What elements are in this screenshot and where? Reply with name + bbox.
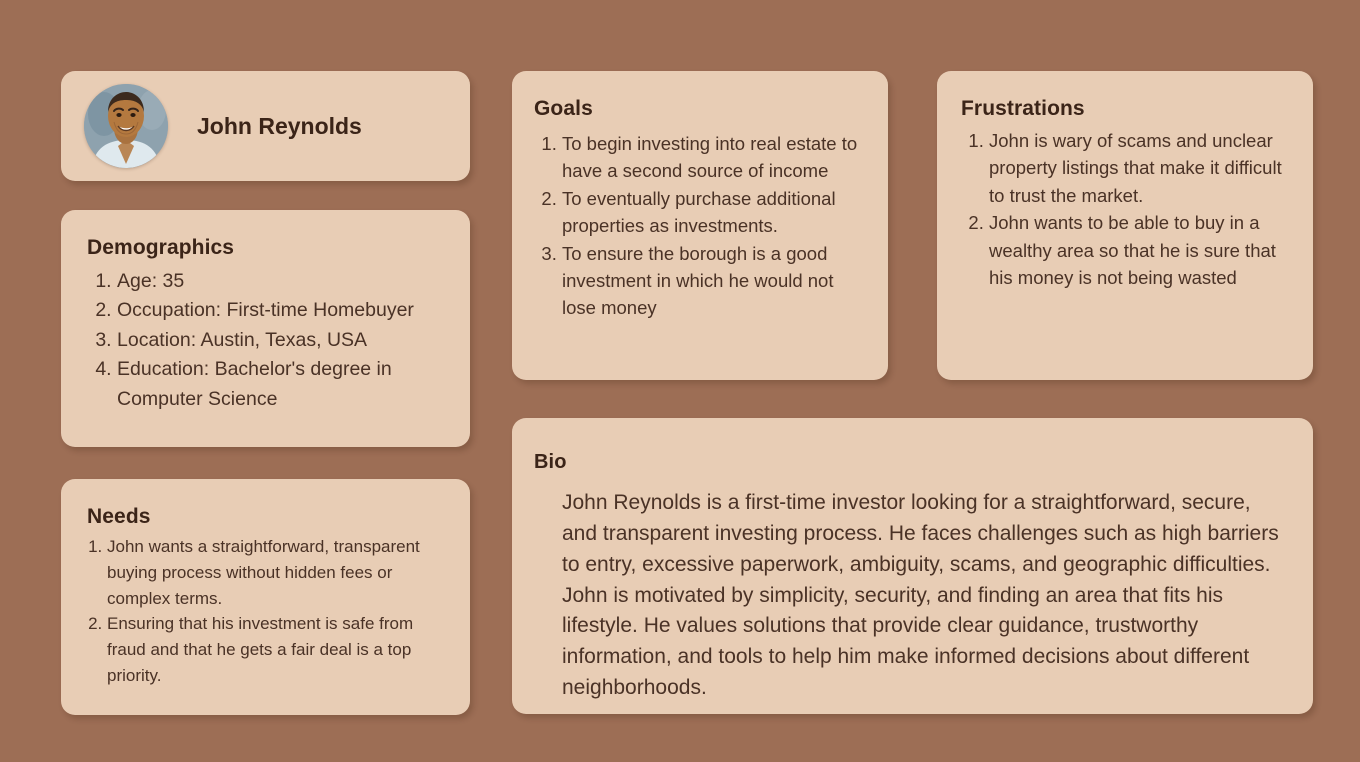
portrait-photo-icon xyxy=(84,84,168,168)
demographics-list: Age: 35 Occupation: First-time Homebuyer… xyxy=(87,267,448,414)
identity-card: John Reynolds xyxy=(61,71,470,181)
needs-title: Needs xyxy=(87,505,448,529)
list-item: Age: 35 xyxy=(117,267,448,296)
persona-name: John Reynolds xyxy=(197,113,362,140)
goals-title: Goals xyxy=(534,97,868,121)
list-item: John is wary of scams and unclear proper… xyxy=(989,127,1295,209)
bio-text: John Reynolds is a first-time investor l… xyxy=(562,488,1285,704)
list-item: Ensuring that his investment is safe fro… xyxy=(107,611,448,688)
persona-board: John Reynolds Demographics Age: 35 Occup… xyxy=(0,0,1360,762)
demographics-title: Demographics xyxy=(87,236,448,260)
list-item: To eventually purchase additional proper… xyxy=(562,185,868,240)
bio-title: Bio xyxy=(534,451,1285,474)
goals-list: To begin investing into real estate to h… xyxy=(534,130,868,322)
list-item: To begin investing into real estate to h… xyxy=(562,130,868,185)
needs-list: John wants a straightforward, transparen… xyxy=(87,534,448,689)
needs-card: Needs John wants a straightforward, tran… xyxy=(61,479,470,715)
frustrations-title: Frustrations xyxy=(961,97,1295,121)
bio-card: Bio John Reynolds is a first-time invest… xyxy=(512,418,1313,714)
list-item: Education: Bachelor's degree in Computer… xyxy=(117,355,448,414)
avatar xyxy=(84,84,168,168)
list-item: John wants to be able to buy in a wealth… xyxy=(989,209,1295,291)
frustrations-card: Frustrations John is wary of scams and u… xyxy=(937,71,1313,380)
list-item: Location: Austin, Texas, USA xyxy=(117,326,448,355)
goals-card: Goals To begin investing into real estat… xyxy=(512,71,888,380)
list-item: To ensure the borough is a good investme… xyxy=(562,240,868,322)
demographics-card: Demographics Age: 35 Occupation: First-t… xyxy=(61,210,470,447)
list-item: John wants a straightforward, transparen… xyxy=(107,534,448,611)
list-item: Occupation: First-time Homebuyer xyxy=(117,296,448,325)
frustrations-list: John is wary of scams and unclear proper… xyxy=(961,127,1295,291)
